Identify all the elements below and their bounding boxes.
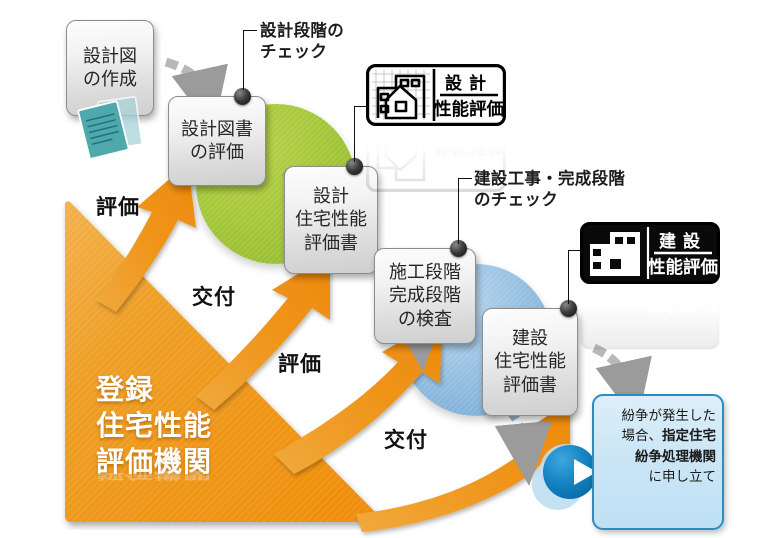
badge-1-top-text: 設計	[445, 73, 493, 94]
dispute-line-2: 場合、指定住宅	[600, 426, 716, 446]
svg-text:性能評価: 性能評価	[648, 294, 718, 315]
box-construction-inspection[interactable]: 施工段階 完成段階 の検査	[374, 248, 476, 344]
construction-performance-badge: 建設 性能評価	[580, 222, 720, 288]
dispute-line-4: に申し立て	[600, 467, 716, 487]
callout-1-leader-horizontal	[243, 30, 257, 31]
box-design-perf-report[interactable]: 設計 住宅性能 評価書	[284, 166, 378, 274]
dispute-line-2-bold: 指定住宅	[662, 428, 716, 444]
callout-design-stage-check: 設計段階の チェック	[260, 20, 344, 63]
caption-evaluation-2: 評価	[278, 348, 322, 378]
box-design-doc-eval[interactable]: 設計図書 の評価	[168, 96, 266, 186]
arrow-draft-to-eval	[166, 62, 206, 98]
badge-1-leader-vertical	[354, 106, 355, 162]
caption-issue-2: 交付	[384, 424, 428, 454]
construction-performance-badge-reflection: 性能評価	[580, 284, 720, 350]
box-design-perf-report-label: 設計 住宅性能 評価書	[295, 185, 367, 255]
box-construction-perf-report-label: 建設 住宅性能 評価書	[494, 327, 566, 397]
knob-design-doc-eval	[234, 88, 251, 105]
caption-issue-1: 交付	[192, 281, 236, 311]
design-performance-badge: 設計 性能評価	[366, 64, 506, 130]
box-design-drawing-label: 設計図 の作成	[83, 45, 137, 92]
document-stack-icon	[76, 96, 152, 166]
box-design-doc-eval-label: 設計図書 の評価	[181, 118, 253, 165]
dispute-line-3-bold: 紛争処理機関	[635, 449, 716, 465]
design-performance-badge-reflection: 性能評価	[366, 126, 506, 192]
dispute-line-3: 紛争処理機関	[600, 447, 716, 467]
diagram-canvas: 登録 住宅性能 評価機関 評価機関	[0, 0, 770, 538]
dispute-notice-box[interactable]: 紛争が発生した 場合、指定住宅 紛争処理機関 に申し立て	[592, 394, 724, 530]
arrow-construction-report-to-dispute	[594, 348, 630, 390]
dispute-line-1: 紛争が発生した	[600, 406, 716, 426]
svg-text:性能評価: 性能評価	[434, 136, 504, 157]
dispute-line-2-plain: 場合、	[622, 428, 663, 444]
callout-1-leader-vertical	[243, 30, 244, 90]
badge-1-bottom-text: 性能評価	[434, 99, 504, 120]
box-construction-inspection-label: 施工段階 完成段階 の検査	[389, 261, 461, 331]
box-construction-perf-report[interactable]: 建設 住宅性能 評価書	[482, 308, 578, 416]
badge-2-bottom-text: 性能評価	[648, 257, 718, 278]
badge-2-leader-vertical	[568, 250, 569, 304]
dispute-notice-text: 紛争が発生した 場合、指定住宅 紛争処理機関 に申し立て	[600, 406, 716, 487]
caption-evaluation-1: 評価	[96, 191, 140, 221]
badge-2-top-text: 建設	[659, 231, 707, 252]
